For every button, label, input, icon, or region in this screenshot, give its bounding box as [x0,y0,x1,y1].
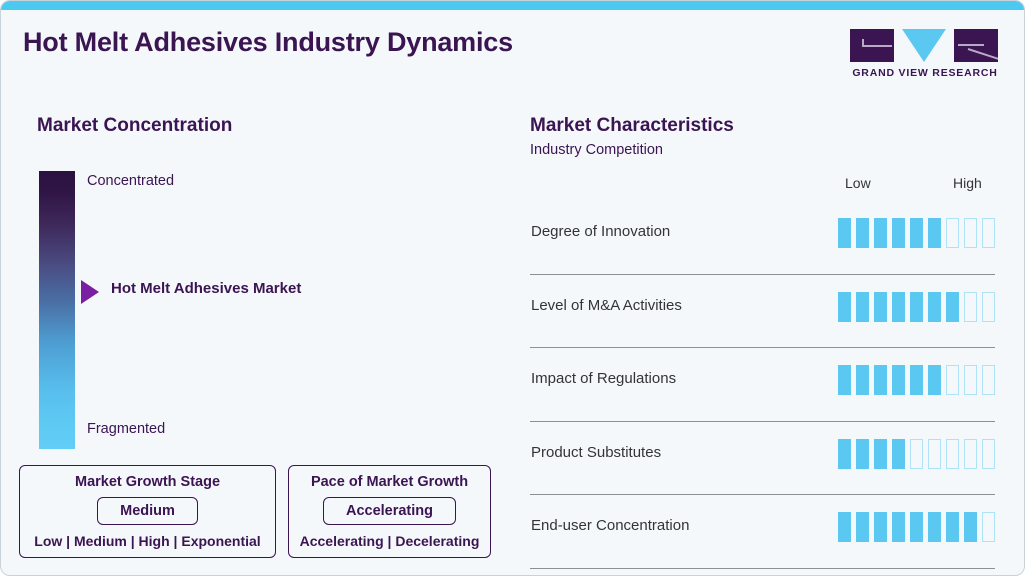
characteristic-row: Degree of Innovation [530,201,995,275]
rating-tick-filled [892,365,905,395]
market-growth-stage-options: Low | Medium | High | Exponential [20,533,275,549]
logo-text: GRAND VIEW RESEARCH [851,67,999,79]
rating-tick-filled [874,292,887,322]
rating-tick-filled [928,512,941,542]
infographic-page: Hot Melt Adhesives Industry Dynamics GRA… [0,0,1025,576]
rating-tick-filled [874,439,887,469]
header: Hot Melt Adhesives Industry Dynamics GRA… [1,10,1025,88]
rating-tick-filled [874,512,887,542]
characteristic-label: Impact of Regulations [531,370,676,387]
characteristic-label: End-user Concentration [531,517,689,534]
market-characteristics-panel: Market Characteristics Industry Competit… [506,97,1025,576]
page-title: Hot Melt Adhesives Industry Dynamics [23,27,513,58]
rating-tick-filled [838,365,851,395]
rating-tick-empty [928,439,941,469]
rating-tick-filled [910,292,923,322]
rating-tick-filled [838,292,851,322]
rating-tick-filled [892,218,905,248]
characteristic-rating-bars [838,512,995,542]
rating-tick-empty [910,439,923,469]
logo: GRAND VIEW RESEARCH [850,29,998,85]
top-accent-bar [1,1,1025,10]
market-growth-stage-box: Market Growth Stage Medium Low | Medium … [19,465,276,558]
market-growth-stage-value: Medium [97,497,198,525]
rating-tick-filled [856,365,869,395]
rating-tick-filled [856,439,869,469]
logo-block-left-icon [850,29,894,62]
market-characteristics-title: Market Characteristics [530,115,734,137]
scale-bottom-label: Fragmented [87,421,165,437]
rating-tick-filled [874,218,887,248]
characteristic-label: Product Substitutes [531,444,661,461]
rating-tick-filled [928,218,941,248]
rating-tick-filled [928,292,941,322]
rating-tick-filled [838,218,851,248]
characteristics-rows: Degree of InnovationLevel of M&A Activit… [530,201,995,569]
rating-tick-filled [946,292,959,322]
scale-low-label: Low [845,175,871,191]
rating-tick-empty [964,218,977,248]
market-growth-stage-title: Market Growth Stage [20,474,275,490]
pace-of-market-growth-options: Accelerating | Decelerating [289,533,490,549]
rating-tick-empty [982,439,995,469]
characteristic-rating-bars [838,365,995,395]
rating-tick-filled [892,512,905,542]
rating-tick-empty [964,365,977,395]
rating-tick-empty [982,292,995,322]
rating-tick-filled [856,292,869,322]
market-concentration-title: Market Concentration [37,115,232,137]
scale-top-label: Concentrated [87,173,174,189]
characteristic-row: Product Substitutes [530,422,995,496]
rating-tick-filled [892,292,905,322]
pace-of-market-growth-title: Pace of Market Growth [289,474,490,490]
rating-tick-filled [874,365,887,395]
pace-of-market-growth-value: Accelerating [323,497,456,525]
pace-of-market-growth-box: Pace of Market Growth Accelerating Accel… [288,465,491,558]
market-position-pointer-icon [81,280,99,304]
rating-tick-filled [910,218,923,248]
rating-tick-empty [946,365,959,395]
characteristic-label: Degree of Innovation [531,223,670,240]
rating-tick-empty [964,439,977,469]
concentration-scale [39,171,75,449]
characteristic-label: Level of M&A Activities [531,297,682,314]
rating-tick-empty [946,218,959,248]
characteristic-rating-bars [838,218,995,248]
characteristic-row: Level of M&A Activities [530,275,995,349]
characteristic-rating-bars [838,292,995,322]
logo-block-right-icon [954,29,998,62]
rating-tick-filled [928,365,941,395]
rating-tick-empty [982,218,995,248]
rating-tick-filled [856,512,869,542]
scale-high-label: High [953,175,982,191]
market-position-label: Hot Melt Adhesives Market [111,280,301,297]
market-characteristics-subtitle: Industry Competition [530,142,663,158]
rating-tick-empty [982,365,995,395]
concentration-gradient-bar [39,171,75,449]
rating-tick-filled [838,439,851,469]
rating-tick-empty [982,512,995,542]
characteristic-row: End-user Concentration [530,495,995,569]
rating-tick-empty [946,439,959,469]
logo-triangle-down-icon [902,29,946,62]
logo-marks [850,29,998,62]
rating-tick-filled [946,512,959,542]
rating-tick-filled [910,365,923,395]
rating-tick-filled [910,512,923,542]
rating-tick-filled [856,218,869,248]
rating-tick-filled [838,512,851,542]
characteristic-rating-bars [838,439,995,469]
market-concentration-panel: Market Concentration Concentrated Fragme… [1,97,506,576]
characteristic-row: Impact of Regulations [530,348,995,422]
rating-tick-filled [964,512,977,542]
rating-tick-filled [892,439,905,469]
rating-tick-empty [964,292,977,322]
